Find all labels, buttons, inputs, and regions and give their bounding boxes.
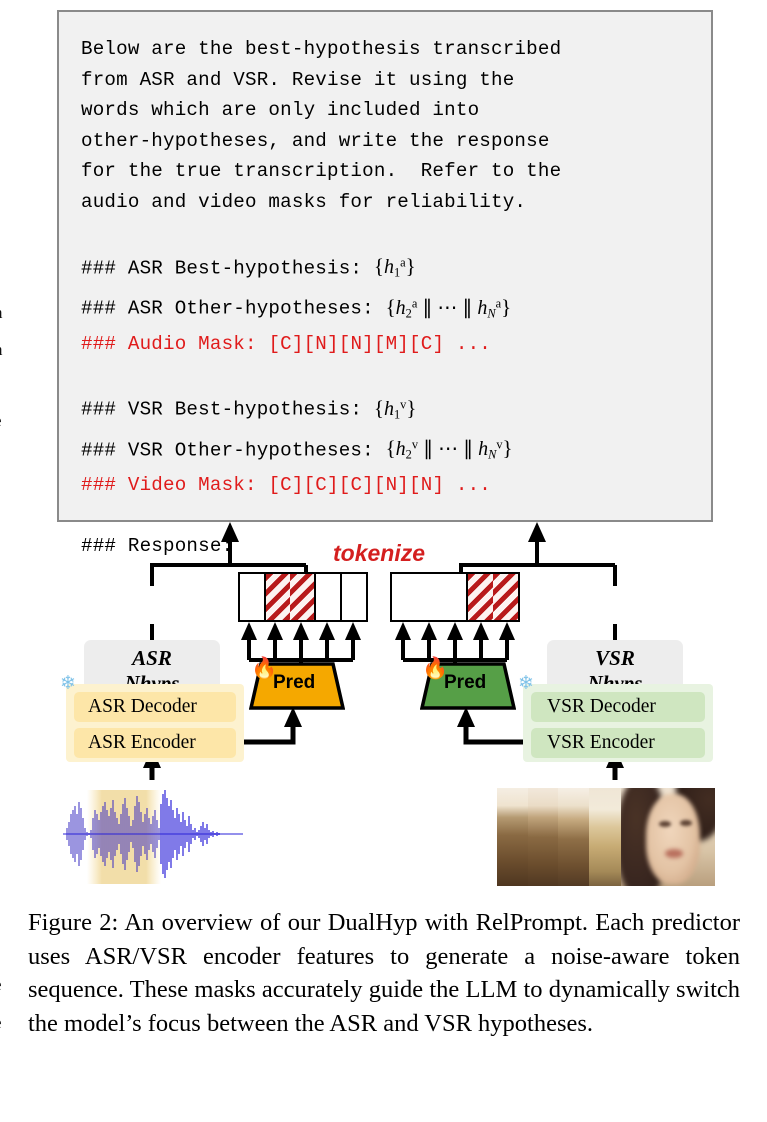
vsr-predictor-label: Pred (444, 672, 486, 694)
snowflake-icon: ❄ (518, 674, 534, 693)
vsr-nhyps-line1: VSR (595, 646, 635, 671)
vsr-token-cell-2 (417, 574, 442, 620)
figure-label: Figure 2: (28, 909, 118, 936)
instruction-line: other-hypotheses, and write the response (81, 126, 711, 157)
asr-token-cell-4 (316, 574, 342, 620)
vsr-other-hypotheses-label: ### VSR Other-hypotheses: (81, 439, 374, 461)
instruction-line: for the true transcription. Refer to the (81, 156, 711, 187)
video-frame-2 (528, 788, 559, 886)
vsr-best-hypothesis-line: ### VSR Best-hypothesis: {h1v} (81, 389, 711, 430)
asr-other-hypotheses-label: ### ASR Other-hypotheses: (81, 298, 374, 320)
video-frame-3 (558, 788, 589, 886)
video-mask-label: ### Video Mask: (81, 474, 257, 496)
figure-caption: Figure 2: An overview of our DualHyp wit… (28, 906, 740, 1040)
vsr-token-cell-4 (468, 574, 493, 620)
instruction-line: words which are only included into (81, 95, 711, 126)
asr-predictor-label: Pred (273, 672, 315, 694)
audio-mask-value: [C][N][N][M][C] ... (268, 333, 491, 355)
figure-caption-text: An overview of our DualHyp with RelPromp… (28, 909, 740, 1037)
asr-other-hypotheses-value: {h2a ∥ ⋯ ∥ hNa} (386, 297, 512, 319)
asr-token-cell-2 (266, 574, 290, 620)
video-frames (497, 788, 715, 886)
asr-best-hypothesis-line: ### ASR Best-hypothesis: {h1a} (81, 248, 711, 289)
asr-other-hypotheses-line: ### ASR Other-hypotheses: {h2a ∥ ⋯ ∥ hNa… (81, 288, 711, 329)
fire-icon: 🔥 (422, 658, 448, 679)
video-mask-value: [C][C][C][N][N] ... (268, 474, 491, 496)
vsr-token-cell-5 (493, 574, 518, 620)
asr-best-hypothesis-value: {h1a} (374, 256, 416, 278)
asr-decoder-box: ASR Decoder (74, 692, 236, 722)
video-frame-4 (589, 788, 622, 886)
vsr-encoder-label: VSR Encoder (531, 732, 655, 754)
audio-mask-label: ### Audio Mask: (81, 333, 257, 355)
snowflake-icon: ❄ (60, 674, 76, 693)
asr-token-cell-3 (290, 574, 316, 620)
vsr-best-hypothesis-label: ### VSR Best-hypothesis: (81, 399, 362, 421)
vsr-token-sequence (390, 572, 520, 622)
asr-decoder-label: ASR Decoder (74, 696, 197, 718)
arrow-head (528, 522, 546, 542)
vsr-other-hypotheses-value: {h2v ∥ ⋯ ∥ hNv} (386, 438, 513, 460)
asr-encoder-label: ASR Encoder (74, 732, 196, 754)
video-mask-line: ### Video Mask: [C][C][C][N][N] ... (81, 470, 711, 501)
prompt-box: Below are the best-hypothesis transcribe… (57, 10, 713, 522)
vsr-encoder-box: VSR Encoder (531, 728, 705, 758)
arrow-head (221, 522, 239, 542)
instruction-line: Below are the best-hypothesis transcribe… (81, 34, 711, 65)
vsr-best-hypothesis-value: {h1v} (374, 398, 417, 420)
vsr-token-cell-1 (392, 574, 417, 620)
asr-token-sequence (238, 572, 368, 622)
audio-mask-line: ### Audio Mask: [C][N][N][M][C] ... (81, 329, 711, 360)
tokenize-label: tokenize (333, 540, 425, 567)
vsr-other-hypotheses-line: ### VSR Other-hypotheses: {h2v ∥ ⋯ ∥ hNv… (81, 430, 711, 471)
video-frame-5-face (621, 788, 715, 886)
video-frame-1 (497, 788, 528, 886)
asr-nhyps-line1: ASR (132, 646, 172, 671)
architecture-diagram: tokenize ASR Nhyps VSR Nhyps Pred 🔥 Pred… (0, 522, 767, 892)
vsr-decoder-label: VSR Decoder (531, 696, 656, 718)
asr-best-hypothesis-label: ### ASR Best-hypothesis: (81, 257, 362, 279)
asr-token-cell-1 (240, 574, 266, 620)
instruction-line: from ASR and VSR. Revise it using the (81, 65, 711, 96)
instruction-line: audio and video masks for reliability. (81, 187, 711, 218)
fire-icon: 🔥 (251, 658, 277, 679)
vsr-decoder-box: VSR Decoder (531, 692, 705, 722)
asr-encoder-box: ASR Encoder (74, 728, 236, 758)
asr-token-cell-5 (342, 574, 366, 620)
prompt-text: Below are the best-hypothesis transcribe… (59, 12, 711, 561)
audio-waveform (63, 784, 287, 884)
vsr-token-cell-3 (442, 574, 469, 620)
